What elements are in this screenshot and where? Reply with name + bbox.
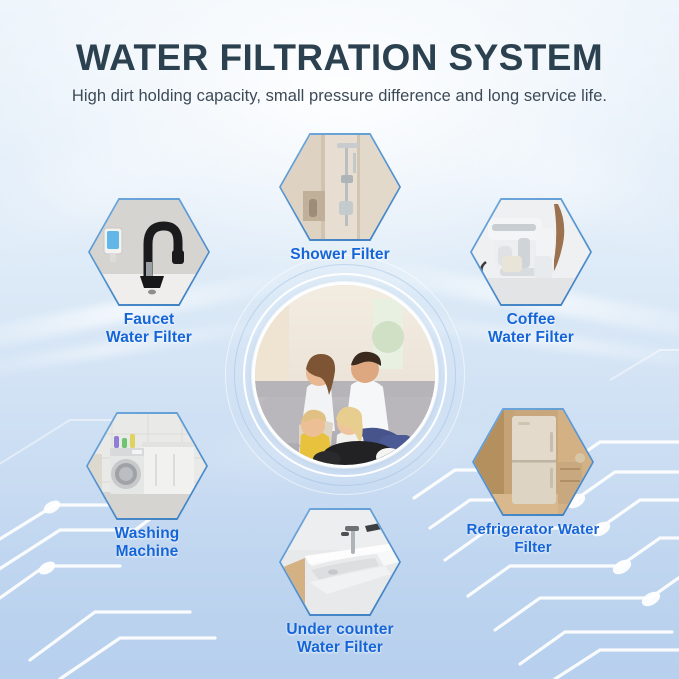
node-label-line1: Washing (115, 525, 180, 542)
node-label-line1: Faucet (124, 311, 175, 328)
infographic-poster: WATER FILTRATION SYSTEM High dirt holdin… (0, 0, 679, 679)
hex-frame (470, 198, 592, 306)
hex-frame (88, 198, 210, 306)
hex-frame (279, 508, 401, 616)
hub-ring (243, 273, 447, 477)
node-label-line1: Coffee (507, 311, 556, 328)
node-label-line2: Water Filter (456, 329, 606, 347)
node-coffee[interactable]: Coffee Water Filter (456, 198, 606, 347)
center-hub (225, 255, 465, 495)
page-title: WATER FILTRATION SYSTEM (0, 37, 679, 79)
refrigerator-kitchen-photo (474, 410, 592, 514)
node-label: Refrigerator Water Filter (458, 521, 608, 557)
node-label: Washing Machine (72, 525, 222, 561)
hex-frame (472, 408, 594, 516)
node-under-counter[interactable]: Under counter Water Filter (265, 508, 415, 657)
hex-frame (279, 133, 401, 241)
node-label-line1: Shower Filter (290, 246, 389, 263)
node-label-line2: Filter (458, 539, 608, 557)
node-refrigerator[interactable]: Refrigerator Water Filter (458, 408, 608, 557)
espresso-coffee-machine-photo (472, 200, 590, 304)
node-faucet[interactable]: Faucet Water Filter (74, 198, 224, 347)
page-subtitle: High dirt holding capacity, small pressu… (0, 87, 679, 106)
node-label: Under counter Water Filter (265, 621, 415, 657)
node-washing-machine[interactable]: Washing Machine (72, 412, 222, 561)
node-label-line2: Water Filter (265, 639, 415, 657)
node-label-line1: Under counter (286, 621, 393, 638)
node-shower[interactable]: Shower Filter (265, 133, 415, 264)
bathroom-sink-basin-photo (281, 510, 399, 614)
node-label: Shower Filter (265, 246, 415, 264)
shower-head-bathroom-photo (281, 135, 399, 239)
black-kitchen-faucet-photo (90, 200, 208, 304)
node-label: Faucet Water Filter (74, 311, 224, 347)
node-label-line1: Refrigerator Water (467, 521, 600, 538)
hex-frame (86, 412, 208, 520)
washing-machine-laundry-photo (88, 414, 206, 518)
node-label: Coffee Water Filter (456, 311, 606, 347)
node-label-line2: Water Filter (74, 329, 224, 347)
node-label-line2: Machine (72, 543, 222, 561)
